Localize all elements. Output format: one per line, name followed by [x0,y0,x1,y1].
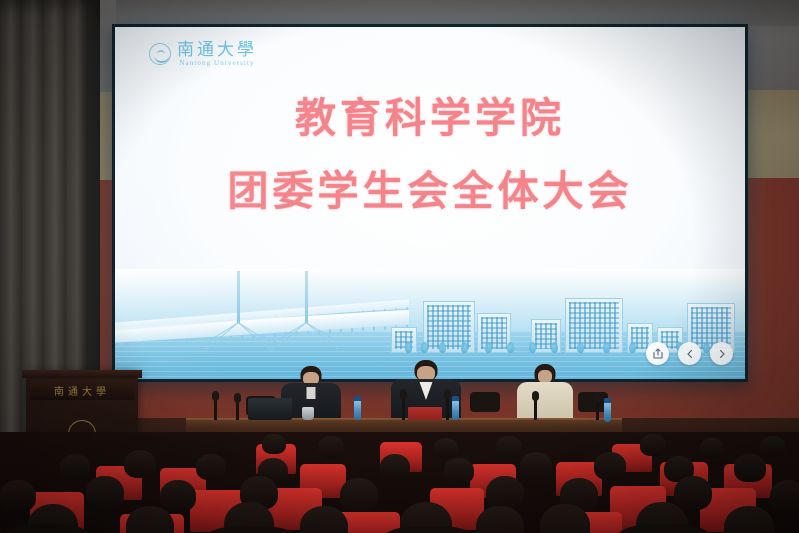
panelist-right [512,364,578,424]
bridge-illustration [115,275,409,349]
university-name-chinese: 南通大學 [177,41,257,58]
ceiling-soffit [0,0,799,26]
presentation-slide[interactable]: 南通大學 Nantong University 教育科学学院 团委学生会全体大会… [115,27,745,379]
nantong-university-emblem-icon [149,43,171,65]
microphone [596,400,599,420]
lectern-university-name: 南通大學 [54,383,110,398]
microphone [534,398,537,420]
university-logo: 南通大學 Nantong University [149,41,257,67]
microphone [446,396,449,420]
university-logo-text: 南通大學 Nantong University [177,41,257,67]
chevron-left-icon[interactable] [678,342,701,365]
chair-back [470,392,500,412]
lectern-nameband: 南通大學 [30,380,134,400]
cup [302,407,314,420]
campus-buildings-illustration [381,271,741,353]
name-plate [408,407,442,420]
slide-navigation[interactable] [646,342,733,365]
microphone [214,398,217,420]
water-bottle [452,400,459,420]
microphone [402,396,405,420]
water-bottle [354,400,361,420]
chevron-right-icon[interactable] [710,342,733,365]
auditorium-scene: 南通大學 Nantong University 教育科学学院 团委学生会全体大会… [0,0,799,533]
audience-area [0,432,799,533]
water-bottle [604,402,611,422]
university-name-english: Nantong University [177,60,257,67]
slide-title-line2: 团委学生会全体大会 [115,168,745,215]
slide-title-block: 教育科学学院 团委学生会全体大会 [115,95,745,215]
slide-title-line1: 教育科学学院 [115,95,745,142]
projection-screen-frame: 南通大學 Nantong University 教育科学学院 团委学生会全体大会… [112,24,748,382]
share-icon[interactable] [646,342,669,365]
laptop [248,398,292,420]
microphone [236,400,239,420]
lectern-top [22,370,142,378]
